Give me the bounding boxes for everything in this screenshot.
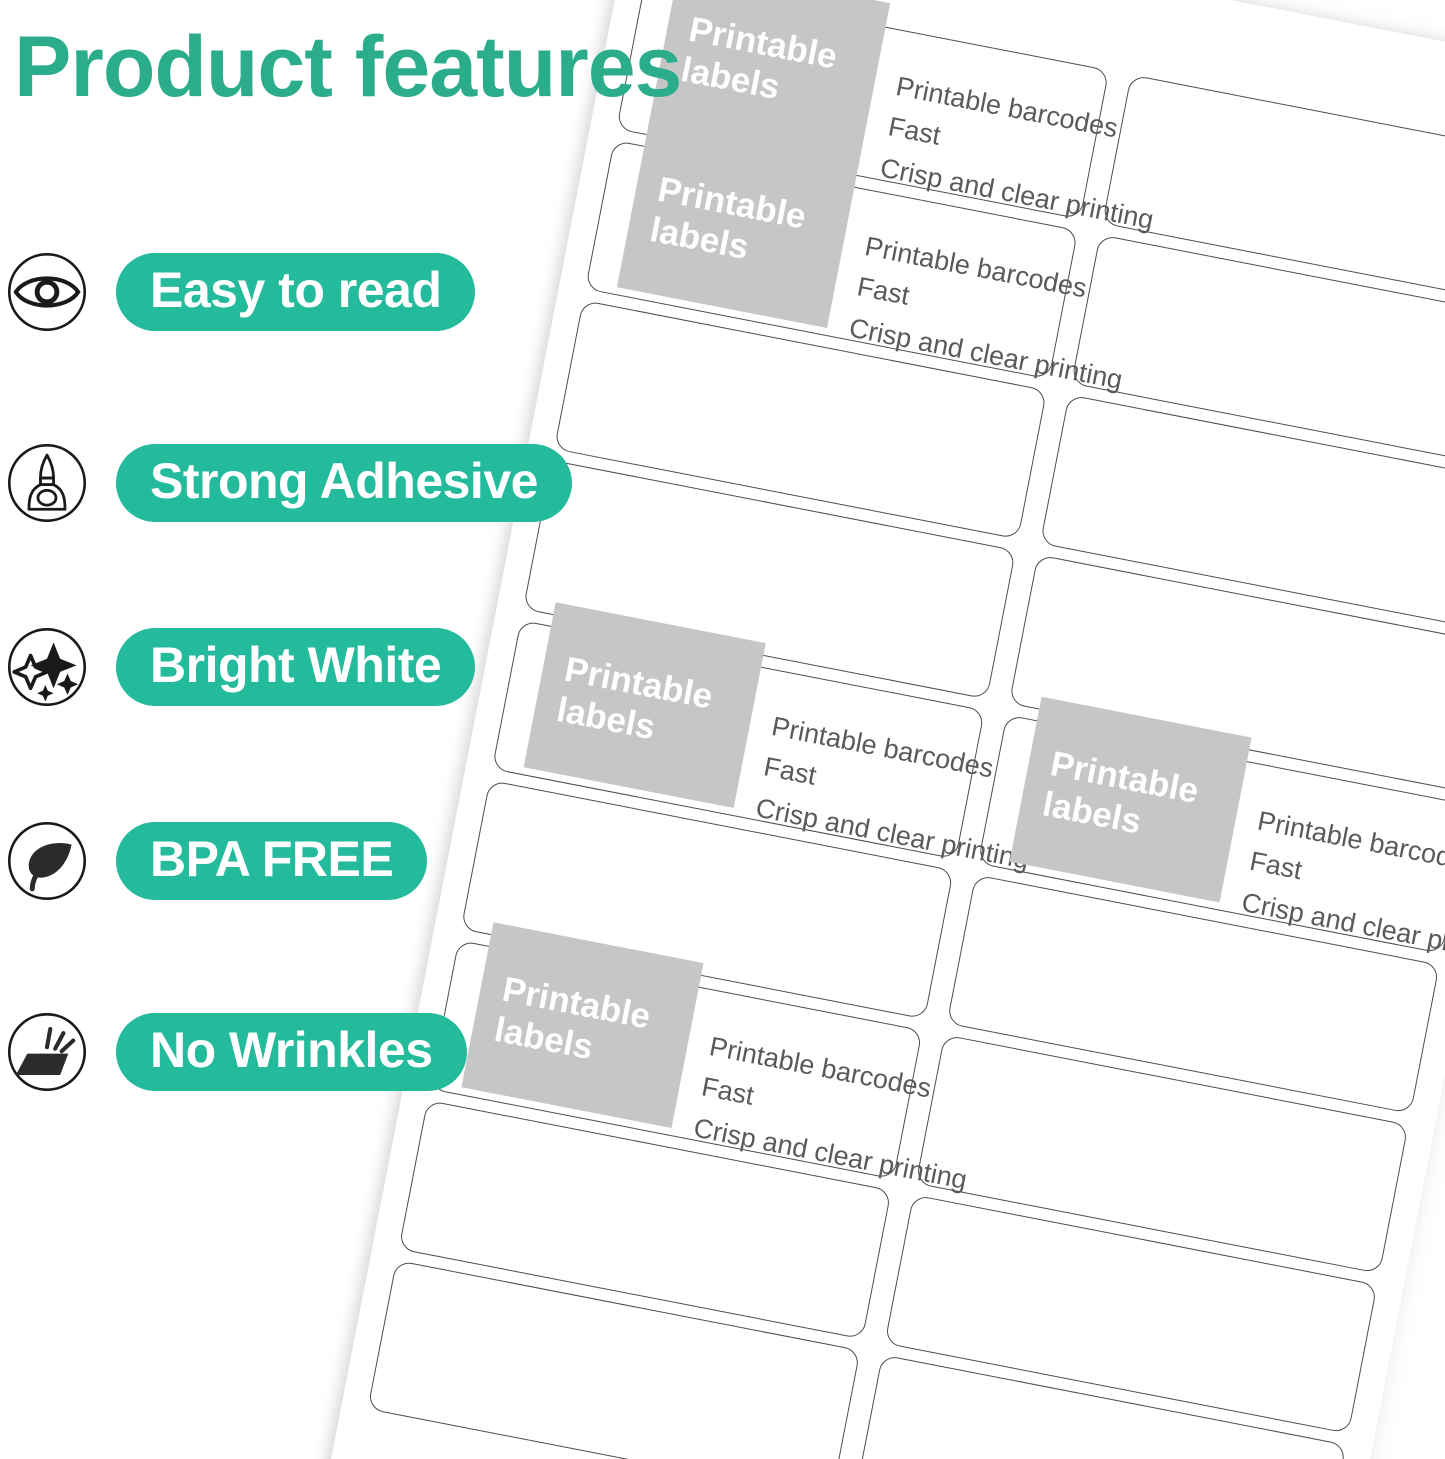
label-feature-list-item: Printable barcodes: [1254, 801, 1445, 894]
feature-label: Bright White: [150, 640, 441, 690]
printable-labels-line: labels: [1039, 783, 1235, 860]
feature-row-bpa-free: BPA FREE: [0, 819, 427, 903]
eye-icon: [6, 251, 88, 333]
feature-row-strong-adhesive: Strong Adhesive: [0, 441, 572, 525]
feature-pill-bpa-free[interactable]: BPA FREE: [116, 822, 427, 900]
page-title: Product features: [14, 24, 681, 110]
feature-label: BPA FREE: [150, 834, 393, 884]
feature-label: No Wrinkles: [150, 1025, 433, 1075]
features-panel: Product features Easy to read Strong Adh…: [0, 0, 620, 1459]
feature-pill-strong-adhesive[interactable]: Strong Adhesive: [116, 444, 572, 522]
printable-labels-line: Printable: [655, 168, 851, 245]
printable-labels-line: labels: [678, 49, 874, 126]
feature-row-bright-white: Bright White: [0, 625, 475, 709]
printable-labels-line: Printable: [1047, 743, 1243, 820]
leaf-icon: [6, 820, 88, 902]
feature-pill-no-wrinkles[interactable]: No Wrinkles: [116, 1013, 467, 1091]
feature-label: Easy to read: [150, 265, 441, 315]
feature-row-easy-to-read: Easy to read: [0, 250, 475, 334]
feature-pill-easy-to-read[interactable]: Easy to read: [116, 253, 475, 331]
feature-pill-bright-white[interactable]: Bright White: [116, 628, 475, 706]
printable-labels-box: Printablelabels: [648, 0, 890, 168]
feature-label: Strong Adhesive: [150, 456, 538, 506]
printable-labels-line: labels: [647, 209, 843, 286]
glue-bottle-icon: [6, 442, 88, 524]
ironed-sheet-icon: [6, 1011, 88, 1093]
sparkles-icon: [6, 626, 88, 708]
feature-row-no-wrinkles: No Wrinkles: [0, 1010, 467, 1094]
printable-labels-line: Printable: [686, 8, 882, 85]
label-feature-list-item: Fast: [1246, 841, 1445, 934]
